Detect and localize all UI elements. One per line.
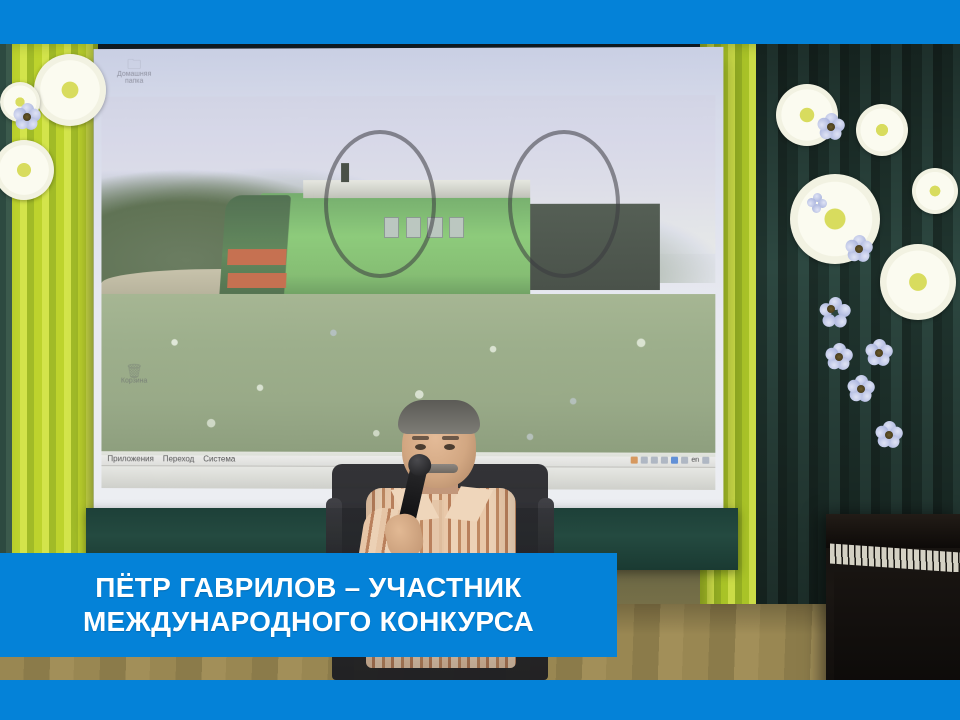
desktop-icon-home[interactable]: 🗀 Домашняя папка [107,57,161,85]
caption-banner: ПЁТР ГАВРИЛОВ – УЧАСТНИК МЕЖДУНАРОДНОГО … [0,553,617,657]
menu-system[interactable]: Система [203,454,235,463]
bottom-letterbox-bar [0,680,960,720]
display-icon[interactable] [641,456,648,463]
caption-line-1: ПЁТР ГАВРИЛОВ – УЧАСТНИК [95,572,521,604]
desktop-icon-label: Домашняя папка [117,71,151,85]
paper-daisy [34,54,106,126]
menu-applications[interactable]: Приложения [107,454,153,463]
trash-icon: 🗑 [107,364,161,378]
wheelchair-wheel [324,130,436,278]
caption-line-2: МЕЖДУНАРОДНОГО КОНКУРСА [83,606,534,638]
system-tray[interactable]: en [631,456,709,463]
menu-places[interactable]: Переход [163,454,195,463]
top-letterbox-bar [0,0,960,44]
paper-daisy [880,244,956,320]
eye [444,444,455,450]
paper-blue-blossom [846,236,872,262]
eyebrow [412,436,429,440]
paper-daisy [912,168,958,214]
network-icon[interactable] [651,456,658,463]
upright-piano [826,514,960,680]
locomotive-stripe-lower [227,273,287,288]
wheelchair-wheel [508,130,620,278]
paper-blue-blossom [848,376,874,402]
eye [415,444,426,450]
paper-blue-blossom [818,296,852,330]
piano-lid [826,514,960,548]
paper-blue-blossom [876,422,902,448]
desktop-icon-label: Корзина [121,378,147,385]
screenshot-root: 🗀 Домашняя папка 🗑 Корзина Приложения Пе… [0,0,960,720]
piano-body [834,572,960,680]
locomotive-window [449,217,465,238]
paper-blue-blossom [866,340,892,366]
paper-blue-blossom [14,104,40,130]
eyebrow [442,436,459,440]
media-icon[interactable] [681,456,688,463]
bluetooth-icon[interactable] [671,456,678,463]
paper-blue-blossom [808,194,826,212]
locomotive-stripe-upper [227,249,287,265]
paper-blue-blossom [818,114,844,140]
update-icon[interactable] [661,456,668,463]
hair [398,400,480,434]
volume-icon[interactable] [702,456,709,463]
keyboard-layout-indicator[interactable]: en [691,456,699,463]
warning-icon[interactable] [631,456,638,463]
folder-icon: 🗀 [107,57,161,71]
paper-daisy [856,104,908,156]
desktop-icon-trash[interactable]: 🗑 Корзина [107,364,161,385]
paper-blue-blossom [826,344,852,370]
